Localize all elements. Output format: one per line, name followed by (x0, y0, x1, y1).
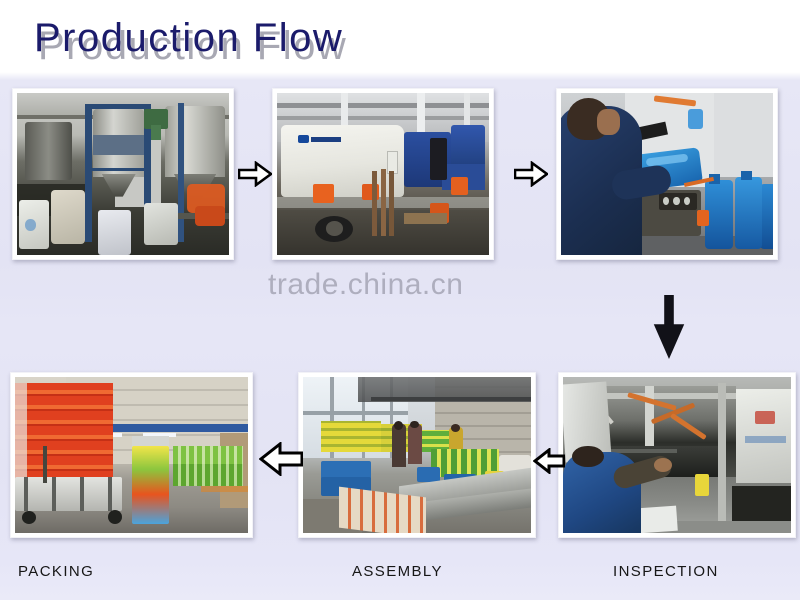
flow-step-photo-inspection (558, 372, 796, 538)
arrow-down-deflashing-to-inspection (652, 295, 686, 359)
page-title-text: Production Flow (34, 14, 343, 62)
arrow-right-material-to-molding (238, 161, 272, 187)
flow-step-photo-material-mixing (12, 88, 234, 260)
arrow-right-molding-to-deflashing (514, 161, 548, 187)
flow-step-photo-injection-molding (272, 88, 494, 260)
stage-label-packing: PACKING (18, 563, 94, 580)
flow-step-photo-deflashing (556, 88, 778, 260)
stage-label-assembly: ASSEMBLY (352, 563, 443, 580)
watermark-text: trade.china.cn (268, 268, 463, 302)
flow-step-photo-packing (10, 372, 253, 538)
arrow-left-inspection-to-assembly (533, 448, 565, 474)
arrow-left-assembly-to-packing (259, 442, 303, 476)
production-flow-slide: Production Flow Production Flow (0, 0, 800, 600)
flow-step-photo-assembly (298, 372, 536, 538)
stage-label-inspection: INSPECTION (613, 563, 719, 580)
